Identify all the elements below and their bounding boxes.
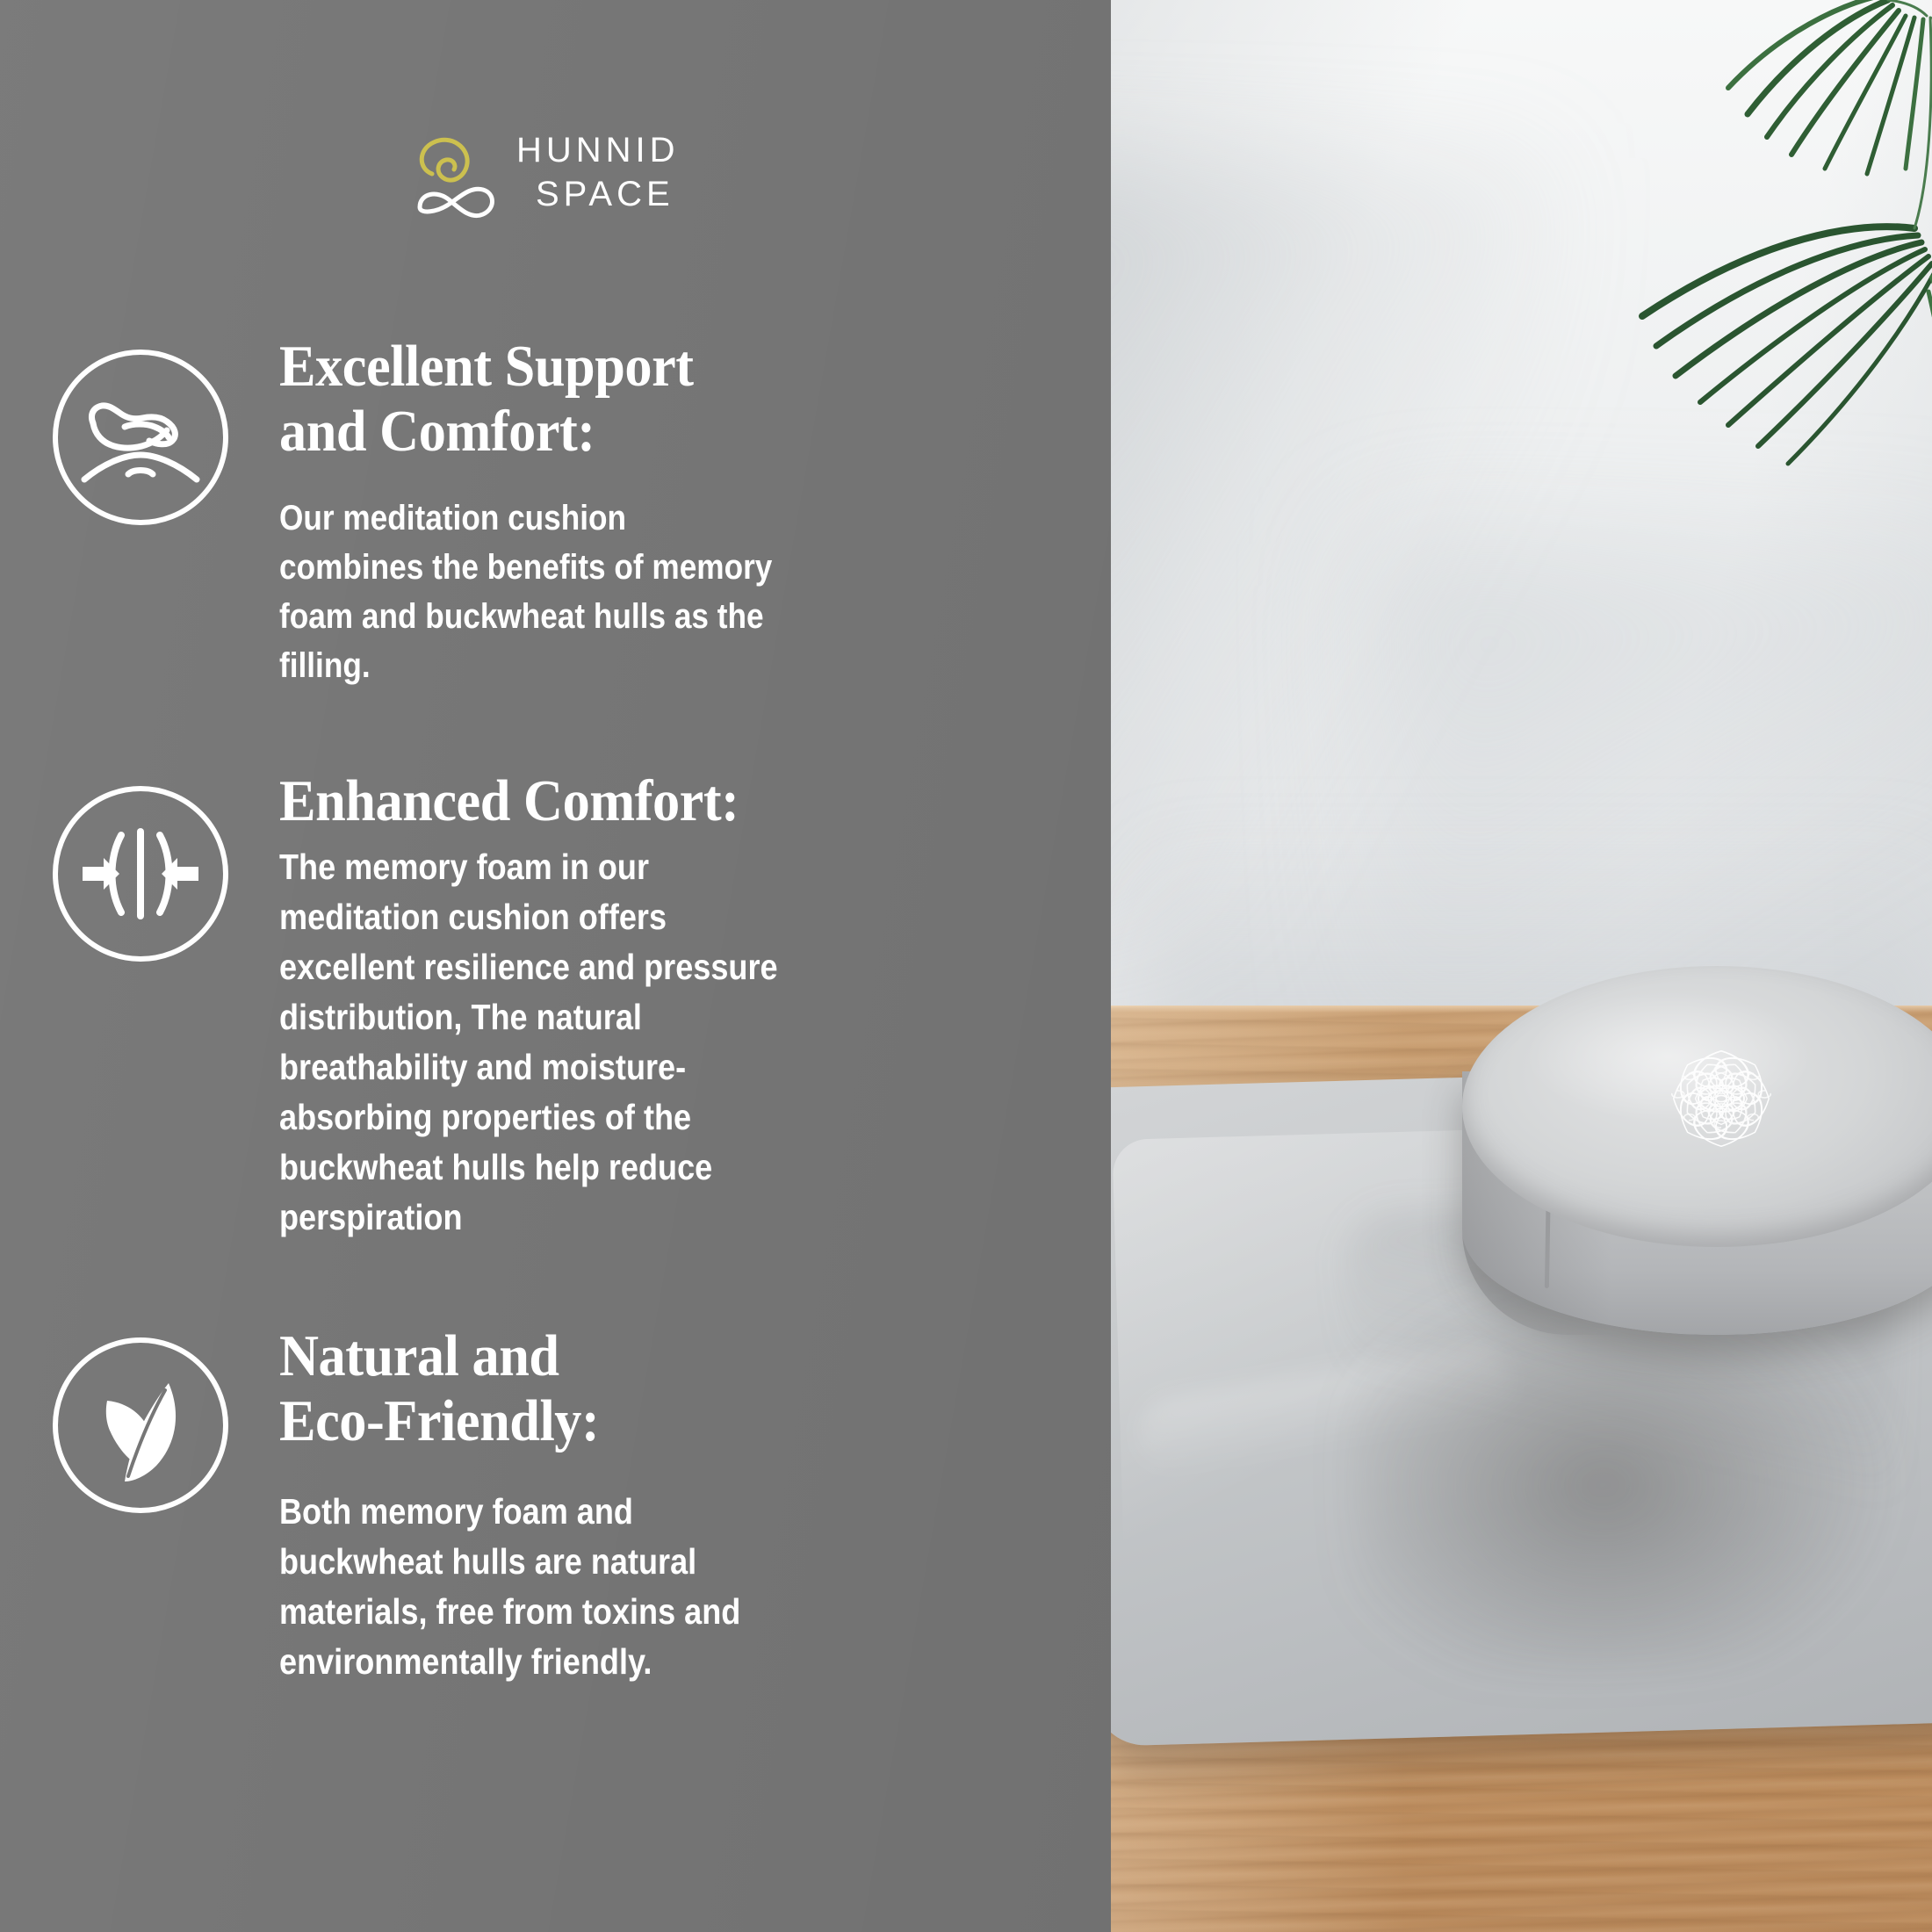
feature-content: Excellent Support and Comfort: Our medit… <box>279 334 841 690</box>
zafu-cushion <box>1462 966 1932 1379</box>
wall-background <box>1111 0 1932 1019</box>
leaf-eco-icon <box>53 1337 228 1513</box>
feature-content: Natural and Eco-Friendly: Both memory fo… <box>279 1323 876 1687</box>
feature-description: The memory foam in our meditation cushio… <box>279 842 804 1243</box>
brand-name-line2: SPACE <box>516 172 680 216</box>
feature-title: Enhanced Comfort: <box>279 768 834 833</box>
feature-description: Our meditation cushion combines the bene… <box>279 494 774 690</box>
brand-name-line1: HUNNID <box>516 128 680 172</box>
info-panel: HUNNID SPACE <box>0 0 1111 1932</box>
spiral-infinity-logo-mark <box>413 123 506 228</box>
compression-resilience-icon <box>53 786 228 962</box>
mandala-embroidery <box>1546 999 1897 1198</box>
feature-title: Natural and Eco-Friendly: <box>279 1323 834 1453</box>
feature-title: Excellent Support and Comfort: <box>279 334 802 464</box>
feature-content: Enhanced Comfort: The memory foam in our… <box>279 768 876 1243</box>
hand-support-icon <box>53 350 228 525</box>
brand-logo[interactable]: HUNNID SPACE <box>413 123 703 237</box>
infographic-canvas: HUNNID SPACE <box>0 0 1932 1932</box>
feature-description: Both memory foam and buckwheat hulls are… <box>279 1487 804 1687</box>
brand-name: HUNNID SPACE <box>516 128 680 216</box>
